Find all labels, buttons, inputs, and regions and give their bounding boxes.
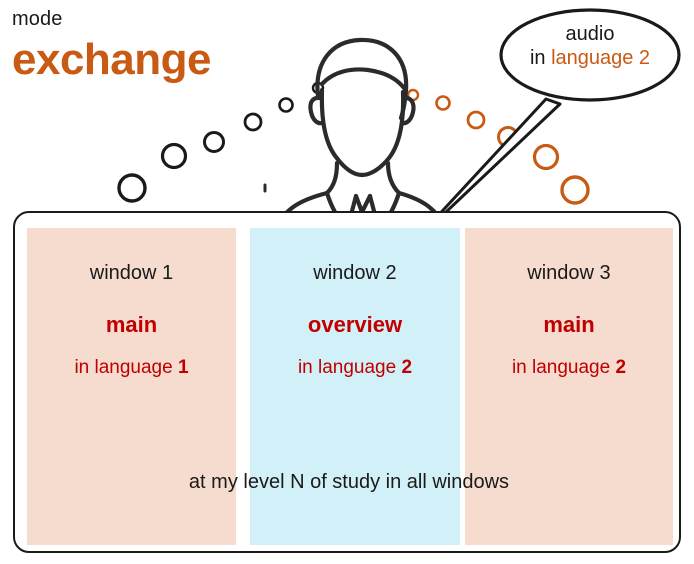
window-panel-2-language-prefix: in language: [298, 357, 402, 378]
mode-name: exchange: [12, 38, 211, 82]
window-panel-2[interactable]: window 2 overview in language 2: [250, 228, 460, 545]
windows-box: window 1 main in language 1 window 2 ove…: [13, 211, 681, 553]
window-panel-2-title: window 2: [250, 263, 460, 283]
speech-bubble-line2: in language 2: [500, 46, 680, 70]
mode-label: mode: [12, 9, 62, 29]
diagram-root: mode exchange: [0, 0, 694, 564]
speech-bubble-line1: audio: [566, 23, 615, 45]
window-panel-3-language: in language 2: [465, 358, 673, 377]
window-panel-3-kind: main: [465, 314, 673, 336]
window-panel-1-language-number: 1: [178, 357, 189, 378]
window-panel-2-language: in language 2: [250, 358, 460, 377]
speech-bubble-line2-prefix: in: [530, 47, 551, 69]
window-panel-3-language-number: 2: [615, 357, 626, 378]
window-panel-3-language-prefix: in language: [512, 357, 616, 378]
window-panel-1-kind: main: [27, 314, 236, 336]
bottom-note: at my level N of study in all windows: [15, 472, 683, 492]
thought-bubbles-left-icon: [119, 83, 323, 201]
window-panel-3[interactable]: window 3 main in language 2: [465, 228, 673, 545]
window-panel-1-language: in language 1: [27, 358, 236, 377]
speech-bubble-text: audio in language 2: [500, 22, 680, 71]
window-panel-1-language-prefix: in language: [74, 357, 178, 378]
thought-bubbles-right-icon: [408, 90, 588, 203]
window-panel-2-language-number: 2: [401, 357, 412, 378]
window-panel-1-title: window 1: [27, 263, 236, 283]
window-panel-1[interactable]: window 1 main in language 1: [27, 228, 236, 545]
speech-bubble-line2-highlight: language 2: [551, 47, 650, 69]
window-panel-3-title: window 3: [465, 263, 673, 283]
window-panel-2-kind: overview: [250, 314, 460, 336]
